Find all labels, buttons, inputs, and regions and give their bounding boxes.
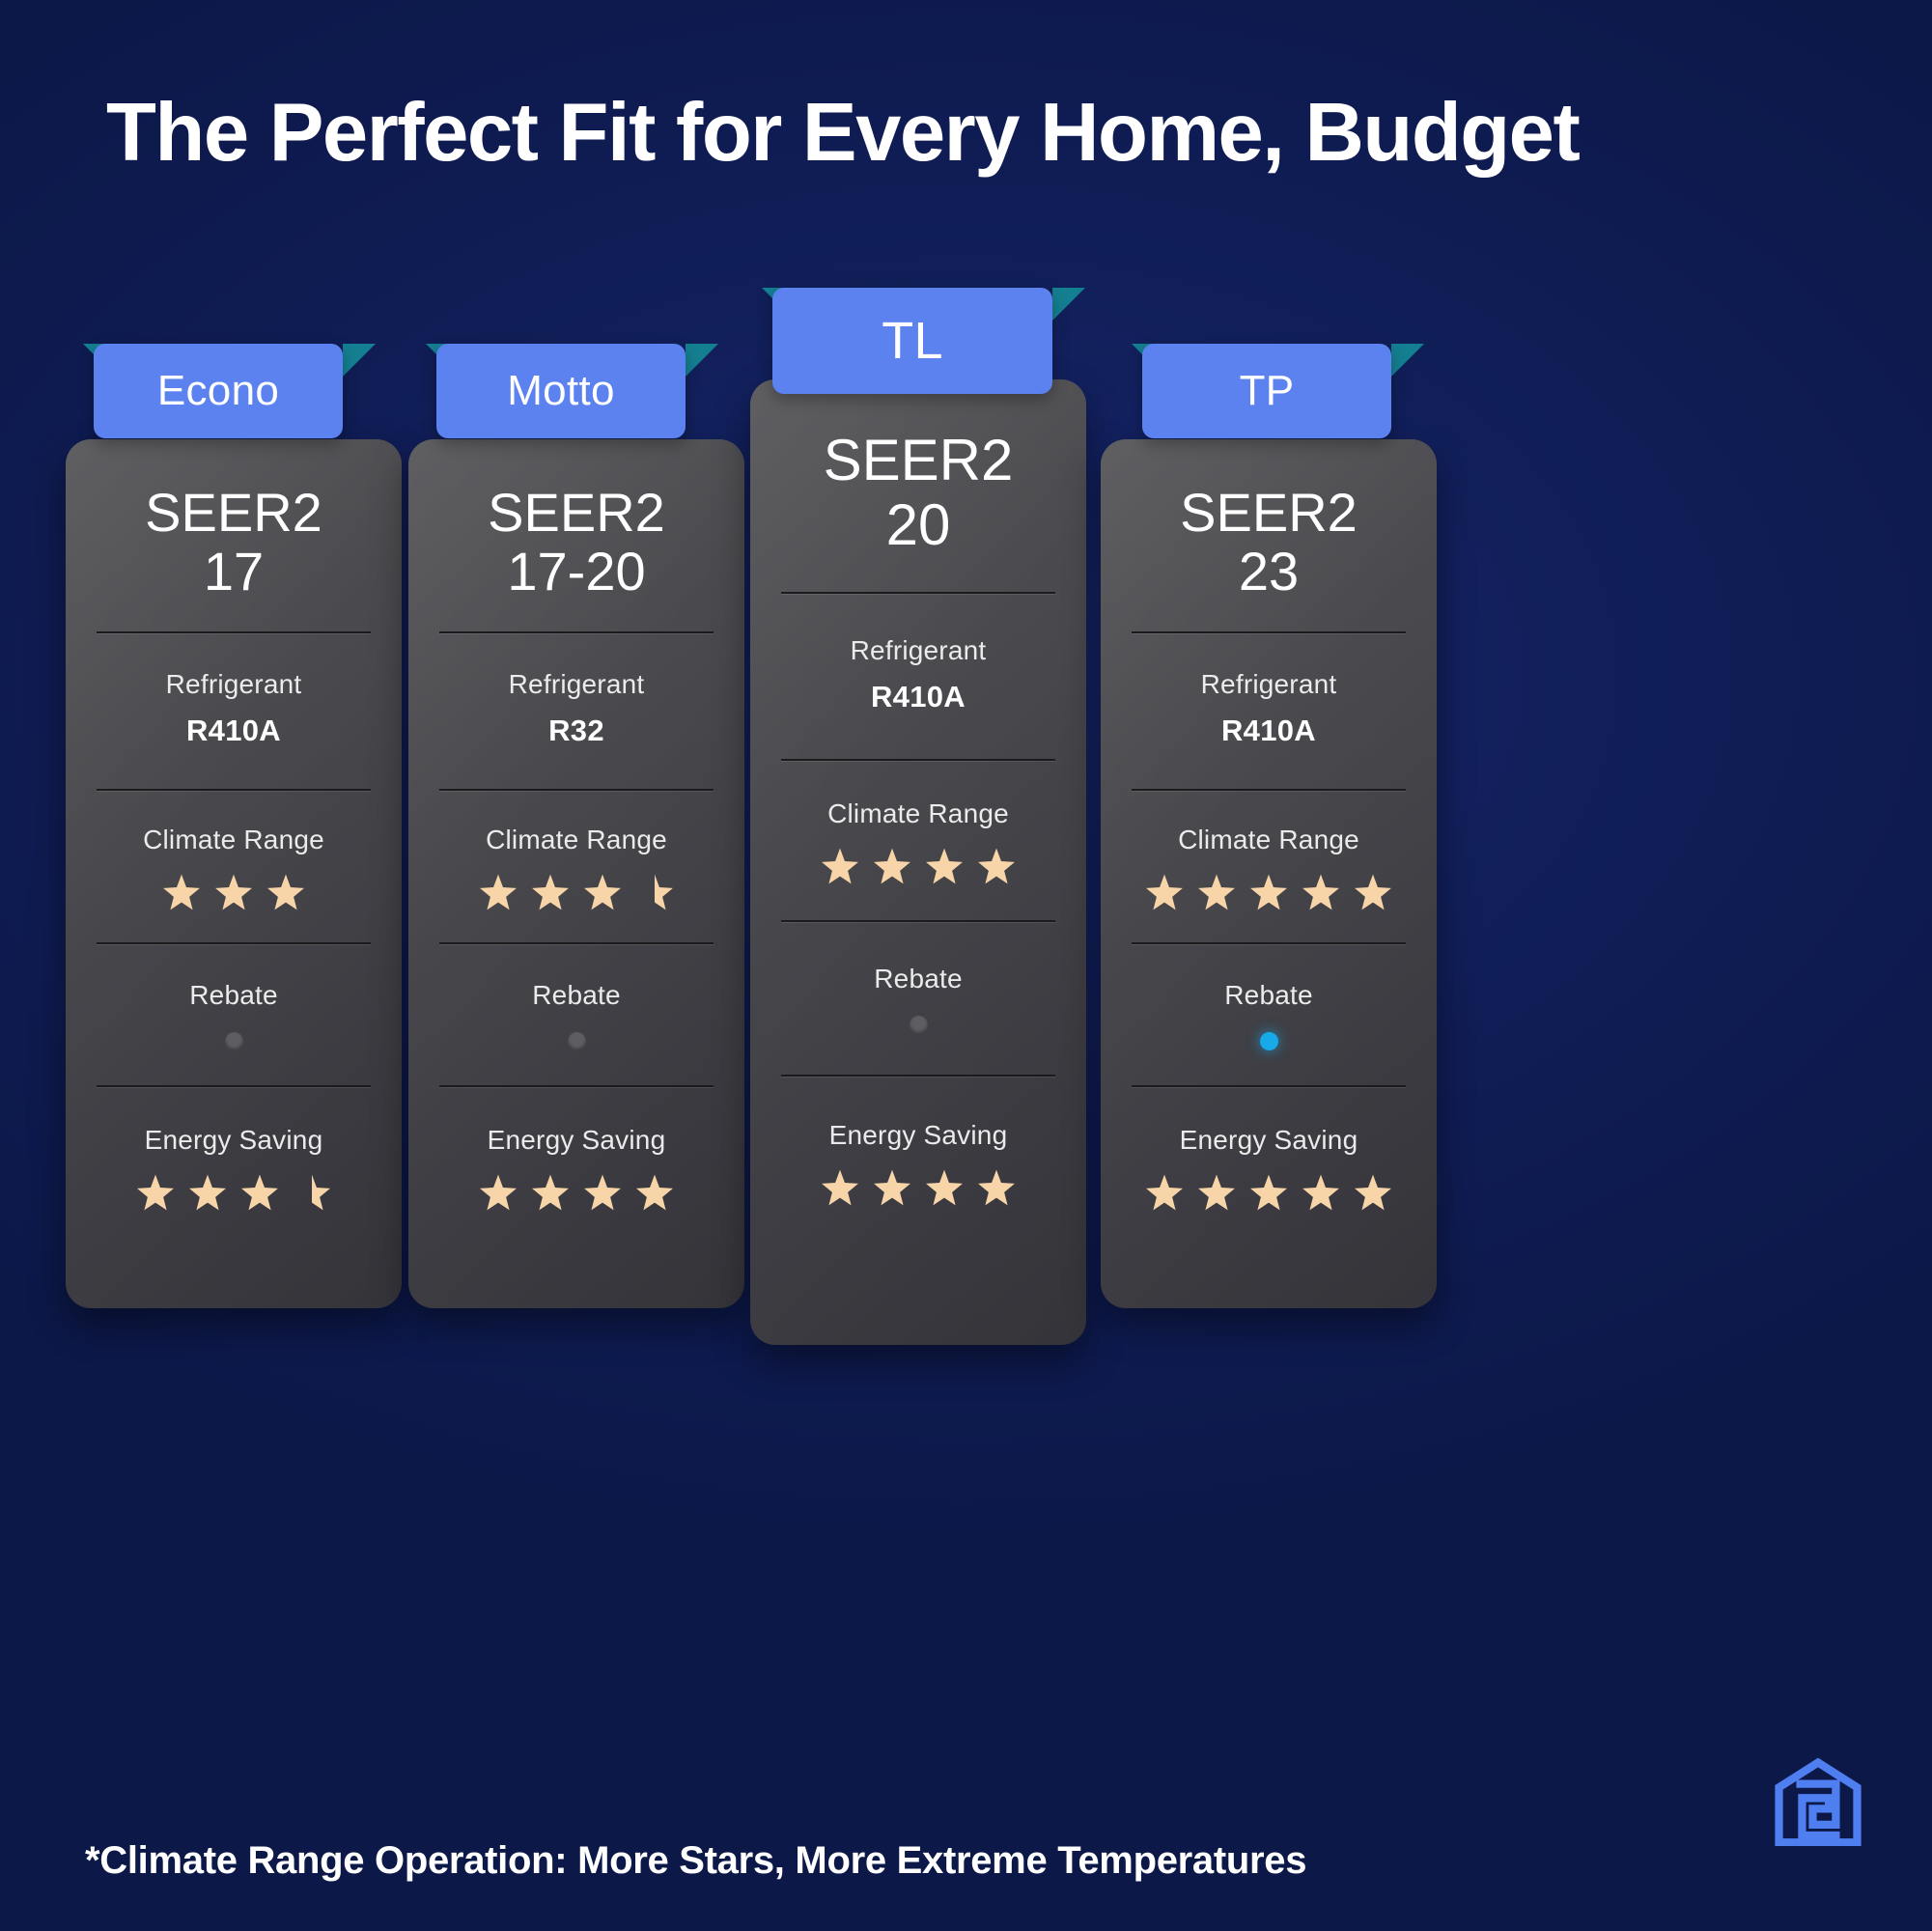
- refrigerant-label: Refrigerant: [509, 669, 645, 700]
- badge-accent-wedge-right: [686, 344, 718, 377]
- star-icon-full: [820, 1168, 860, 1209]
- star-icon-full: [1301, 1173, 1341, 1214]
- refrigerant-label: Refrigerant: [851, 635, 987, 666]
- seer-value: 23: [1180, 542, 1358, 602]
- rebate-label: Rebate: [189, 980, 278, 1011]
- card-badge-motto[interactable]: Motto: [436, 344, 686, 438]
- star-icon-full: [976, 847, 1017, 887]
- star-icon-full: [820, 847, 860, 887]
- energy-saving-section: Energy Saving: [779, 1077, 1057, 1238]
- rebate-section: Rebate: [95, 945, 373, 1085]
- badge-accent-wedge-right: [343, 344, 376, 377]
- seer-block: SEER2 17: [145, 439, 322, 631]
- product-card-tl[interactable]: SEER2 20 Refrigerant R410A Climate Range…: [750, 379, 1086, 1345]
- energy-saving-stars: [1144, 1173, 1393, 1214]
- climate-range-stars: [1144, 873, 1393, 913]
- product-card-econo[interactable]: SEER2 17 Refrigerant R410A Climate Range…: [66, 439, 402, 1308]
- refrigerant-section: Refrigerant R410A: [95, 634, 373, 789]
- seer-block: SEER2 17-20: [488, 439, 665, 631]
- climate-range-label: Climate Range: [827, 798, 1009, 829]
- star-icon-full: [530, 1173, 571, 1214]
- star-icon-full: [1353, 873, 1393, 913]
- refrigerant-label: Refrigerant: [1201, 669, 1337, 700]
- rebate-label: Rebate: [532, 980, 621, 1011]
- star-icon-half: [634, 873, 675, 913]
- star-icon-full: [634, 1173, 675, 1214]
- star-icon-full: [239, 1173, 280, 1214]
- rebate-indicator-dot: [910, 1016, 928, 1034]
- energy-saving-label: Energy Saving: [829, 1120, 1008, 1151]
- seer-block: SEER2 20: [824, 379, 1014, 592]
- energy-saving-stars: [135, 1173, 332, 1214]
- footnote-text: *Climate Range Operation: More Stars, Mo…: [85, 1839, 1306, 1883]
- star-icon-full: [1144, 1173, 1185, 1214]
- badge-accent-wedge-left: [1132, 344, 1164, 377]
- house-logo-icon: [1774, 1757, 1862, 1846]
- page-title: The Perfect Fit for Every Home, Budget: [106, 92, 1579, 174]
- climate-range-label: Climate Range: [143, 825, 324, 855]
- rebate-label: Rebate: [1224, 980, 1313, 1011]
- card-badge-tl[interactable]: TL: [772, 288, 1052, 394]
- star-icon-full: [1248, 1173, 1289, 1214]
- star-icon-full: [1196, 873, 1237, 913]
- climate-range-section: Climate Range: [95, 792, 373, 942]
- star-icon-full: [872, 847, 912, 887]
- climate-range-label: Climate Range: [486, 825, 667, 855]
- card-badge-econo[interactable]: Econo: [94, 344, 343, 438]
- star-icon-full: [924, 847, 965, 887]
- badge-accent-wedge-left: [426, 344, 459, 377]
- seer-value: 20: [824, 492, 1014, 557]
- energy-saving-section: Energy Saving: [437, 1088, 715, 1241]
- energy-saving-section: Energy Saving: [95, 1088, 373, 1241]
- star-icon-full: [530, 873, 571, 913]
- seer-value: 17: [145, 542, 322, 602]
- rebate-indicator-dot: [568, 1032, 586, 1050]
- star-icon-full: [976, 1168, 1017, 1209]
- refrigerant-value: R410A: [871, 680, 966, 714]
- badge-accent-wedge-left: [762, 288, 795, 321]
- refrigerant-label: Refrigerant: [166, 669, 302, 700]
- climate-range-stars: [820, 847, 1017, 887]
- seer-label: SEER2: [145, 484, 322, 542]
- energy-saving-label: Energy Saving: [145, 1125, 323, 1156]
- seer-block: SEER2 23: [1180, 439, 1358, 631]
- energy-saving-label: Energy Saving: [1180, 1125, 1358, 1156]
- comparison-cards: Econo Motto TL TP SEER2 17 Refrigerant R…: [0, 0, 1932, 1931]
- star-icon-half: [292, 1173, 332, 1214]
- refrigerant-value: R32: [548, 714, 604, 748]
- climate-range-label: Climate Range: [1178, 825, 1359, 855]
- refrigerant-value: R410A: [1221, 714, 1316, 748]
- climate-range-stars: [478, 873, 675, 913]
- badge-accent-wedge-right: [1052, 288, 1085, 321]
- badge-accent-wedge-right: [1391, 344, 1424, 377]
- star-icon-full: [1144, 873, 1185, 913]
- rebate-section: Rebate: [779, 923, 1057, 1075]
- refrigerant-section: Refrigerant R410A: [779, 595, 1057, 759]
- climate-range-stars: [161, 873, 306, 913]
- rebate-indicator-dot: [225, 1032, 243, 1050]
- star-icon-full: [213, 873, 254, 913]
- refrigerant-section: Refrigerant R410A: [1130, 634, 1408, 789]
- star-icon-full: [1196, 1173, 1237, 1214]
- badge-accent-wedge-left: [83, 344, 116, 377]
- star-icon-full: [478, 1173, 518, 1214]
- product-card-motto[interactable]: SEER2 17-20 Refrigerant R32 Climate Rang…: [408, 439, 744, 1308]
- star-icon-full: [266, 873, 306, 913]
- star-icon-full: [582, 873, 623, 913]
- refrigerant-section: Refrigerant R32: [437, 634, 715, 789]
- climate-range-section: Climate Range: [1130, 792, 1408, 942]
- refrigerant-value: R410A: [186, 714, 281, 748]
- star-icon-full: [1248, 873, 1289, 913]
- seer-label: SEER2: [1180, 484, 1358, 542]
- rebate-section: Rebate: [437, 945, 715, 1085]
- star-icon-full: [1353, 1173, 1393, 1214]
- seer-label: SEER2: [824, 430, 1014, 492]
- energy-saving-stars: [820, 1168, 1017, 1209]
- star-icon-full: [135, 1173, 176, 1214]
- star-icon-full: [478, 873, 518, 913]
- product-card-tp[interactable]: SEER2 23 Refrigerant R410A Climate Range…: [1101, 439, 1437, 1308]
- star-icon-full: [872, 1168, 912, 1209]
- seer-label: SEER2: [488, 484, 665, 542]
- rebate-section: Rebate: [1130, 945, 1408, 1085]
- star-icon-full: [161, 873, 202, 913]
- rebate-indicator-dot: [1260, 1032, 1278, 1050]
- climate-range-section: Climate Range: [437, 792, 715, 942]
- star-icon-full: [187, 1173, 228, 1214]
- energy-saving-stars: [478, 1173, 675, 1214]
- star-icon-full: [1301, 873, 1341, 913]
- climate-range-section: Climate Range: [779, 762, 1057, 920]
- star-icon-full: [924, 1168, 965, 1209]
- rebate-label: Rebate: [874, 964, 963, 994]
- card-badge-tp[interactable]: TP: [1142, 344, 1391, 438]
- seer-value: 17-20: [488, 542, 665, 602]
- energy-saving-label: Energy Saving: [488, 1125, 666, 1156]
- energy-saving-section: Energy Saving: [1130, 1088, 1408, 1241]
- star-icon-full: [582, 1173, 623, 1214]
